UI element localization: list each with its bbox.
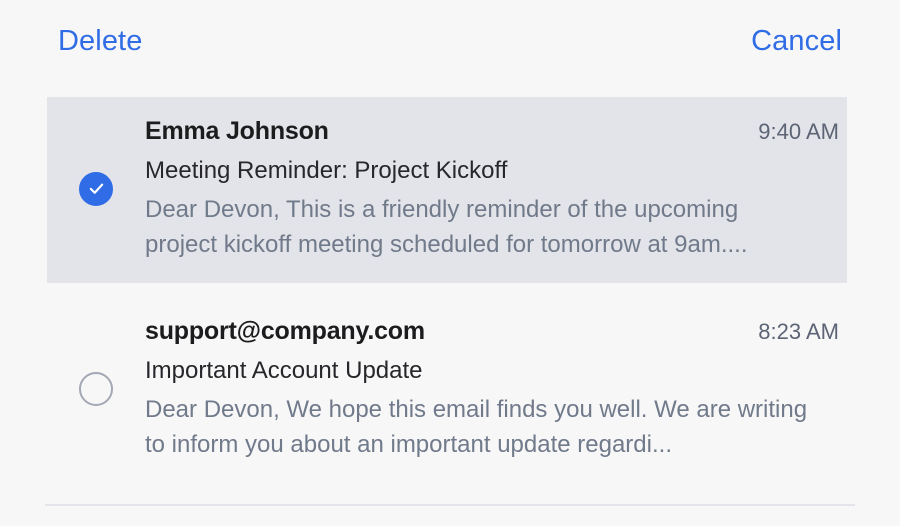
- email-subject: Meeting Reminder: Project Kickoff: [145, 154, 839, 188]
- select-cell: [47, 172, 145, 206]
- email-list-item[interactable]: Emma Johnson 9:40 AM Meeting Reminder: P…: [47, 97, 847, 283]
- email-sender: Emma Johnson: [145, 115, 329, 148]
- email-header-line: support@company.com 8:23 AM: [145, 315, 839, 348]
- email-timestamp: 9:40 AM: [758, 117, 839, 148]
- toolbar: Delete Cancel: [0, 0, 900, 82]
- email-body: support@company.com 8:23 AM Important Ac…: [145, 315, 847, 463]
- email-sender: support@company.com: [145, 315, 425, 348]
- email-body: Emma Johnson 9:40 AM Meeting Reminder: P…: [145, 115, 847, 263]
- circle-outline-icon[interactable]: [79, 372, 113, 406]
- email-selection-screen: Delete Cancel Emma Johnson 9:40 AM Meeti…: [0, 0, 900, 526]
- email-timestamp: 8:23 AM: [758, 317, 839, 348]
- check-circle-filled-icon[interactable]: [79, 172, 113, 206]
- email-list-item[interactable]: support@company.com 8:23 AM Important Ac…: [47, 297, 847, 483]
- email-header-line: Emma Johnson 9:40 AM: [145, 115, 839, 148]
- email-preview: Dear Devon, We hope this email finds you…: [145, 393, 815, 463]
- delete-button[interactable]: Delete: [58, 27, 142, 56]
- email-preview: Dear Devon, This is a friendly reminder …: [145, 193, 815, 263]
- cancel-button[interactable]: Cancel: [751, 27, 842, 56]
- email-subject: Important Account Update: [145, 354, 839, 388]
- select-cell: [47, 372, 145, 406]
- checkmark-icon: [88, 180, 105, 197]
- list-divider: [45, 504, 855, 506]
- row-spacer: [0, 283, 900, 297]
- email-list: Emma Johnson 9:40 AM Meeting Reminder: P…: [0, 97, 900, 482]
